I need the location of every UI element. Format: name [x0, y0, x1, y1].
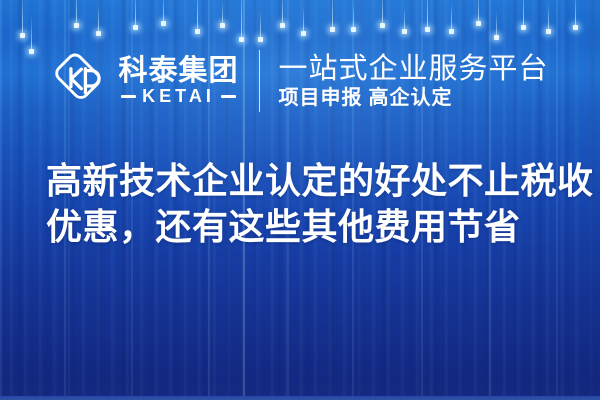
- brand-logo: 科泰集团 KETAI: [51, 52, 238, 110]
- brand-name-cn: 科泰集团: [118, 57, 238, 86]
- tagline-sub: 项目申报 高企认定: [279, 87, 453, 109]
- banner-header: 科泰集团 KETAI 一站式企业服务平台 项目申报 高企认定: [0, 44, 600, 118]
- dash-icon: [121, 95, 136, 98]
- vertical-divider-icon: [259, 50, 260, 112]
- tagline-block: 一站式企业服务平台 项目申报 高企认定: [279, 53, 549, 109]
- brand-name-en: KETAI: [142, 87, 215, 105]
- ketai-diamond-kd-logo-icon: [51, 52, 109, 110]
- tagline-main: 一站式企业服务平台: [279, 53, 549, 85]
- headline: 高新技术企业认定的好处不止税收 优惠，还有这些其他费用节省: [46, 158, 554, 250]
- promo-banner: 科泰集团 KETAI 一站式企业服务平台 项目申报 高企认定 高新技术企业认定的…: [0, 0, 600, 400]
- headline-line-2: 优惠，还有这些其他费用节省: [46, 204, 554, 250]
- headline-line-1: 高新技术企业认定的好处不止税收: [46, 158, 554, 204]
- brand-wordmark: 科泰集团 KETAI: [118, 57, 238, 105]
- brand-name-en-row: KETAI: [118, 87, 238, 105]
- dash-icon: [221, 95, 236, 98]
- bottom-edge-strip: [0, 396, 600, 400]
